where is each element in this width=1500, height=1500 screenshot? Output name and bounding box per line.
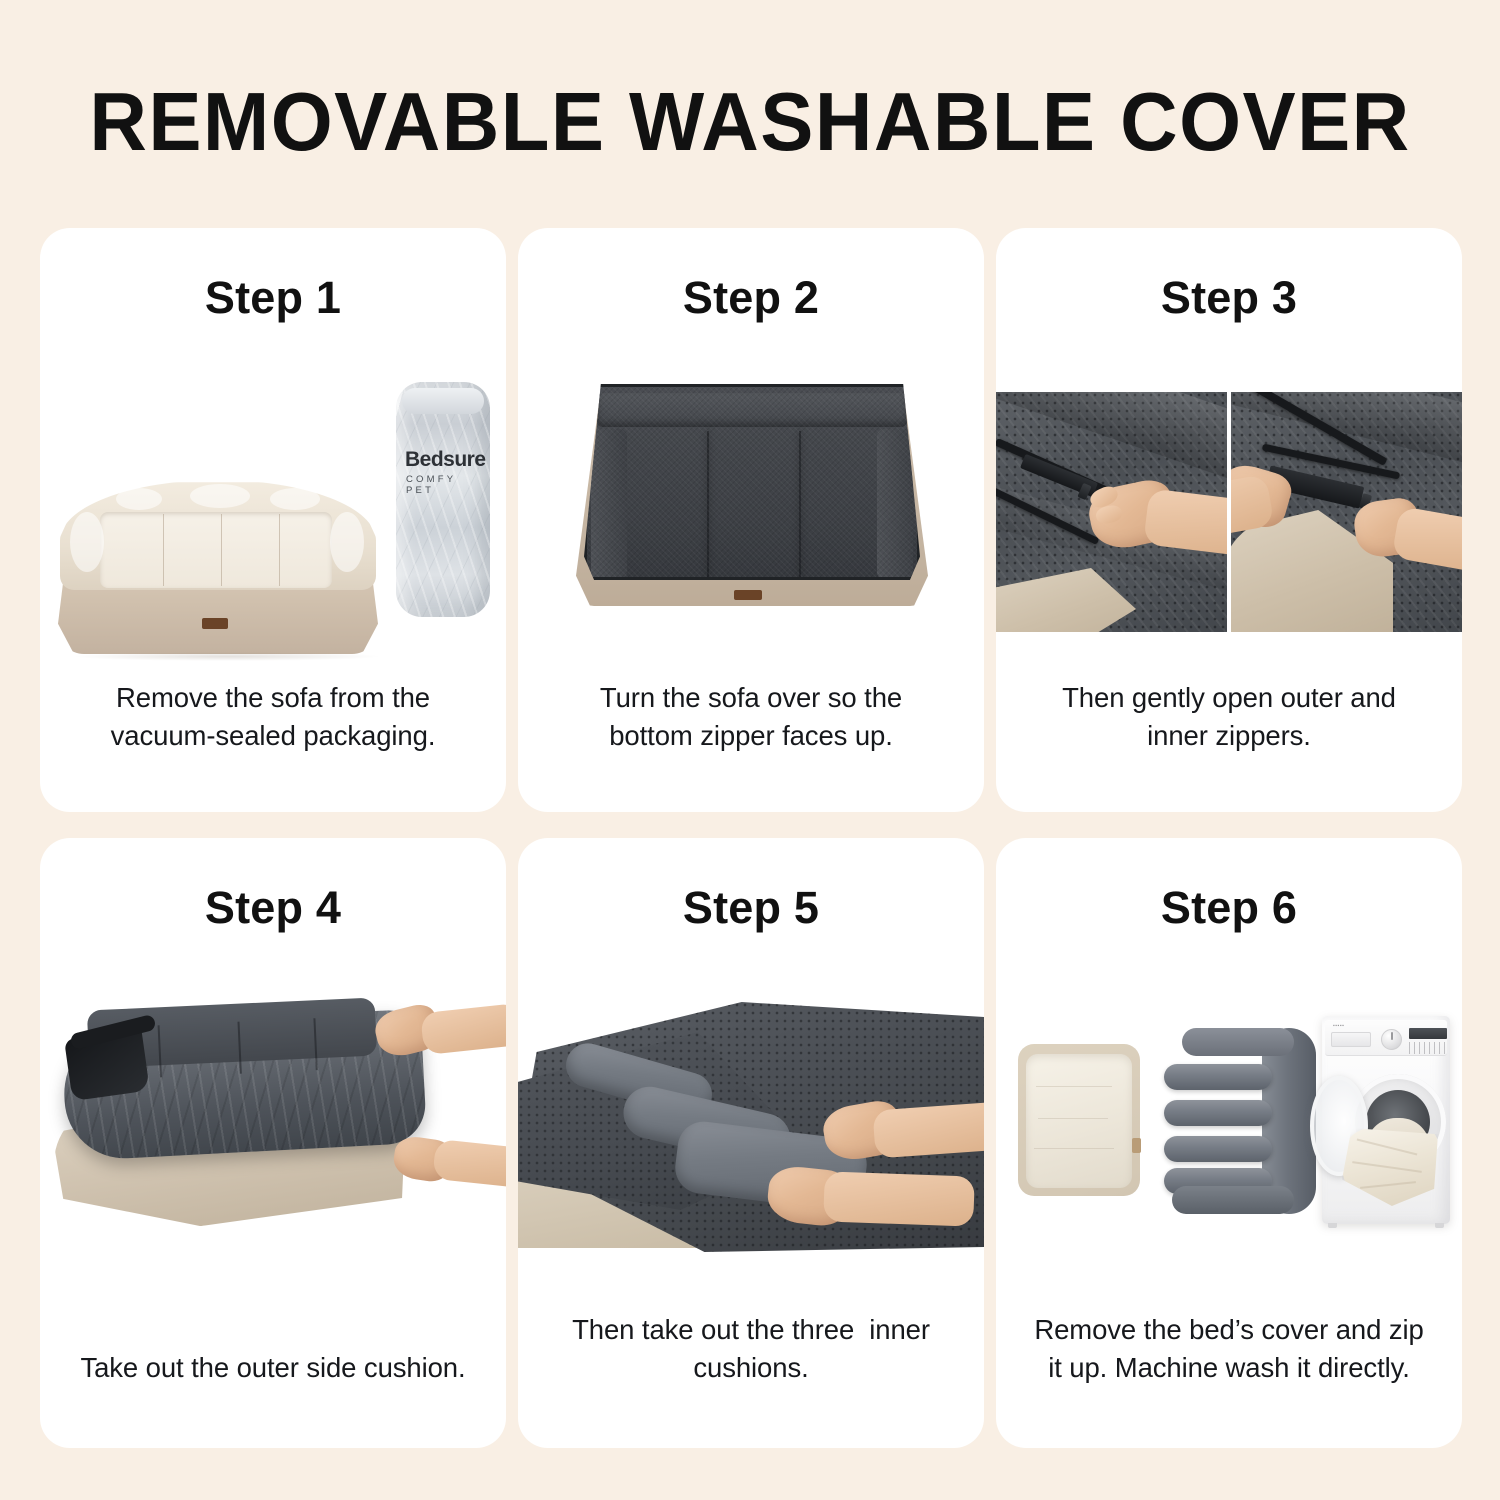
hands-removing-outer-cushion-image (40, 988, 506, 1298)
hands-opening-zippers-image (996, 392, 1462, 632)
package-brand-tagline: COMFY PET (406, 474, 490, 496)
page-title: REMOVABLE WASHABLE COVER (30, 74, 1470, 170)
cream-pet-sofa-illustration (58, 460, 378, 655)
cover-brand-tag (1132, 1138, 1141, 1153)
step-heading-1: Step 1 (40, 272, 506, 324)
inner-zipper-photo (1231, 392, 1462, 632)
bed-brand-tag (734, 590, 762, 600)
step-caption-4: Take out the outer side cushion. (70, 1349, 476, 1386)
step-caption-2: Turn the sofa over so the bottom zipper … (548, 679, 954, 754)
step-caption-3: Then gently open outer and inner zippers… (1026, 679, 1432, 754)
step-card-5: Step 5 Then take out the three inner cus… (518, 838, 984, 1448)
hands-removing-inner-cushions-image (518, 998, 984, 1266)
step-heading-5: Step 5 (518, 882, 984, 934)
control-panel: ▪▪▪▪▪ (1325, 1020, 1447, 1056)
step-heading-3: Step 3 (996, 272, 1462, 324)
vacuum-sealed-package: Bedsure COMFY PET (396, 382, 490, 617)
step-card-3: Step 3 (996, 228, 1462, 812)
program-markings (1409, 1042, 1447, 1054)
washer-brand-label: ▪▪▪▪▪ (1333, 1023, 1344, 1029)
stacked-inner-cushions (1164, 1028, 1316, 1214)
step-card-4: Step 4 Take out the outer side cushion. (40, 838, 506, 1448)
folded-bed-cover (1018, 1044, 1140, 1196)
step-card-1: Step 1 Bedsure COMFY PET (40, 228, 506, 812)
step-heading-2: Step 2 (518, 272, 984, 324)
program-dial[interactable] (1381, 1029, 1402, 1050)
bed-brand-tag (202, 618, 228, 629)
display-screen (1409, 1028, 1447, 1039)
step-card-6: Step 6 ▪▪▪▪▪ (996, 838, 1462, 1448)
steps-grid: Step 1 Bedsure COMFY PET (40, 228, 1460, 1448)
step-heading-4: Step 4 (40, 882, 506, 934)
step-caption-6: Remove the bed’s cover and zip it up. Ma… (1026, 1311, 1432, 1386)
step-caption-5: Then take out the three inner cushions. (548, 1311, 954, 1386)
washing-machine: ▪▪▪▪▪ (1322, 1016, 1450, 1224)
detergent-drawer[interactable] (1331, 1032, 1371, 1047)
step-caption-1: Remove the sofa from the vacuum-sealed p… (70, 679, 476, 754)
package-brand-logo: Bedsure (405, 448, 486, 472)
flipped-sofa-illustration (576, 384, 928, 610)
outer-zipper-photo (996, 392, 1227, 632)
step-card-2: Step 2 Turn the sofa over so the bottom … (518, 228, 984, 812)
step-heading-6: Step 6 (996, 882, 1462, 934)
cream-laundry-fabric (1342, 1128, 1438, 1206)
folded-cover-cushions-washing-machine-image: ▪▪▪▪▪ (996, 988, 1462, 1288)
